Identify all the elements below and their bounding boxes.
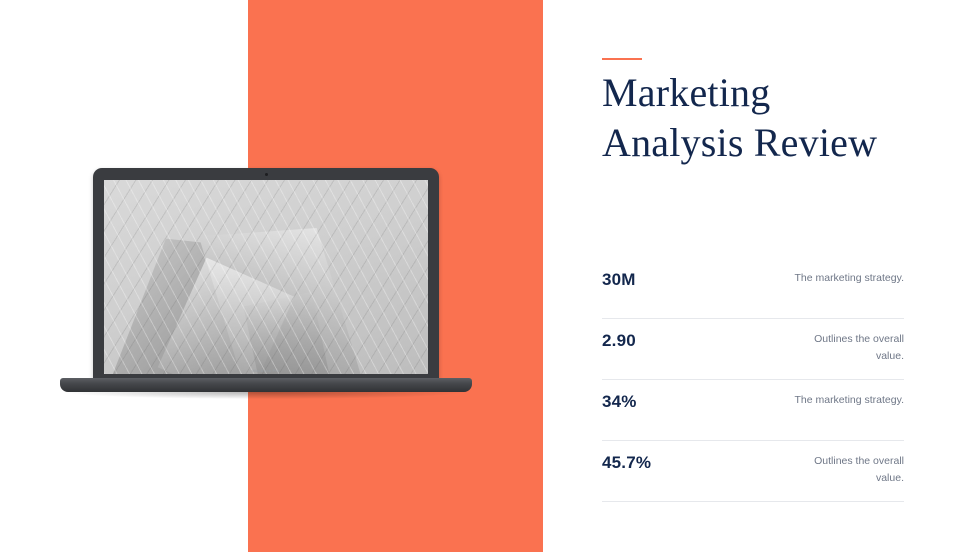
stat-value: 30M bbox=[602, 270, 636, 290]
stat-value: 45.7% bbox=[602, 453, 651, 473]
stat-description: The marketing strategy. bbox=[794, 270, 904, 287]
laptop-shadow bbox=[66, 392, 466, 399]
laptop-mockup: MacBook Pro bbox=[60, 168, 472, 400]
list-item: 34% The marketing strategy. bbox=[602, 380, 904, 441]
laptop-base bbox=[60, 378, 472, 392]
list-item: 2.90 Outlines the overall value. bbox=[602, 319, 904, 380]
page-title-line-2: Analysis Review bbox=[602, 118, 922, 168]
device-label: MacBook Pro bbox=[244, 368, 288, 373]
stat-value: 34% bbox=[602, 392, 637, 412]
stat-description: The marketing strategy. bbox=[794, 392, 904, 409]
laptop-lid: MacBook Pro bbox=[93, 168, 439, 382]
webcam-icon bbox=[265, 173, 268, 176]
page-title-line-1: Marketing bbox=[602, 68, 922, 118]
presentation-slide: MacBook Pro Marketing Analysis Review 30… bbox=[0, 0, 980, 552]
screen-artwork-texture bbox=[104, 180, 428, 374]
stats-list: 30M The marketing strategy. 2.90 Outline… bbox=[602, 258, 904, 502]
stat-description: Outlines the overall value. bbox=[784, 453, 904, 487]
stat-value: 2.90 bbox=[602, 331, 636, 351]
stat-description: Outlines the overall value. bbox=[784, 331, 904, 365]
accent-rule bbox=[602, 58, 642, 60]
slide-content-column: Marketing Analysis Review 30M The market… bbox=[602, 0, 922, 552]
list-item: 30M The marketing strategy. bbox=[602, 258, 904, 319]
page-title: Marketing Analysis Review bbox=[602, 68, 922, 168]
list-item: 45.7% Outlines the overall value. bbox=[602, 441, 904, 502]
laptop-screen bbox=[104, 180, 428, 374]
